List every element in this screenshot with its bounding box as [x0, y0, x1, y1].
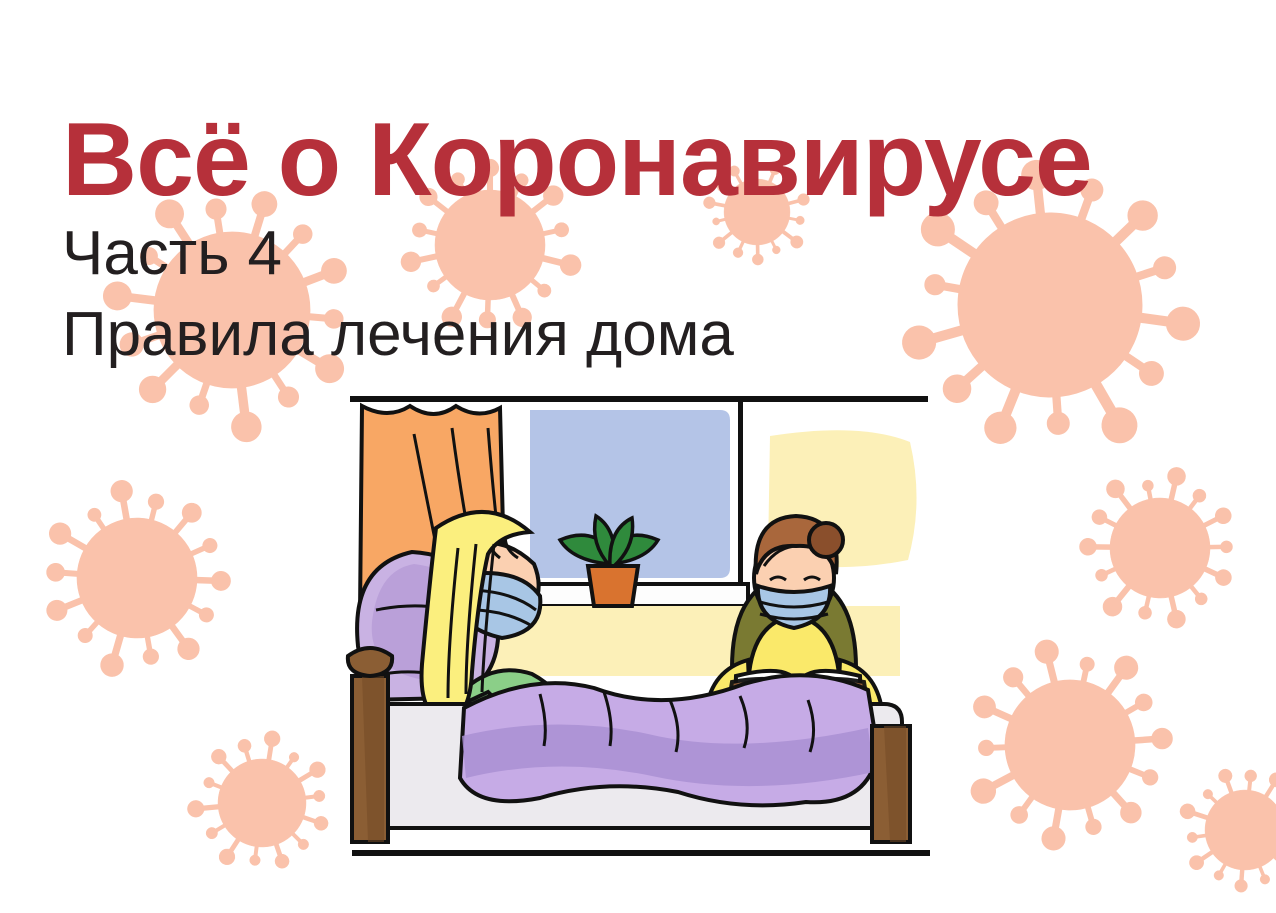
two-women-in-bedroom-illustration	[340, 388, 940, 868]
coronavirus-particle-icon	[169, 715, 353, 892]
purple-blanket	[460, 675, 878, 805]
coronavirus-particle-icon	[1054, 440, 1266, 657]
headboard-knob	[348, 648, 392, 676]
poster-canvas: Всё о Коронавирусе Часть4 Правила лечени…	[0, 0, 1276, 913]
coronavirus-particle-icon	[921, 598, 1218, 894]
window-frame-vertical	[738, 402, 743, 588]
plant-pot	[588, 566, 638, 606]
page-title: Всё о Коронавирусе	[62, 108, 1092, 212]
top-frame-line	[350, 396, 928, 402]
caregiver-hair-bun	[809, 523, 843, 557]
part-label: Часть	[62, 219, 230, 288]
subtitle-block: Часть4 Правила лечения дома	[62, 214, 734, 375]
subtitle-line-topic: Правила лечения дома	[62, 295, 734, 376]
bottom-frame-line	[352, 850, 930, 856]
part-number: 4	[230, 219, 282, 288]
coronavirus-particle-icon	[40, 476, 234, 683]
coronavirus-particle-icon	[1173, 763, 1276, 896]
subtitle-line-part: Часть4	[62, 214, 734, 295]
